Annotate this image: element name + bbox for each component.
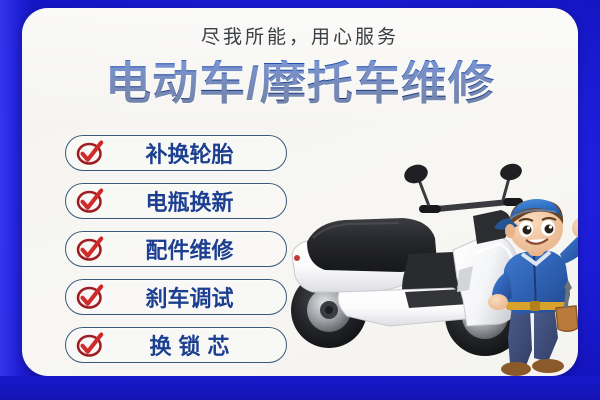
ear — [505, 224, 515, 238]
left-mirror — [402, 162, 430, 206]
mechanic-svg — [460, 198, 578, 376]
mechanic-illustration — [460, 198, 578, 376]
service-item-3[interactable]: 配件维修 — [65, 231, 287, 267]
check-circle-icon — [75, 186, 105, 216]
tail-light — [294, 255, 300, 261]
belt-buckle — [530, 301, 540, 311]
right-arm — [560, 232, 578, 264]
thumbs-up-hand — [572, 210, 578, 240]
service-item-2[interactable]: 电瓶换新 — [65, 183, 287, 219]
service-label: 刹车调试 — [105, 281, 286, 313]
service-label: 补换轮胎 — [105, 137, 286, 169]
white-card: 尽我所能，用心服务 电动车/摩托车维修 — [22, 8, 578, 376]
promo-poster: 尽我所能，用心服务 电动车/摩托车维修 — [0, 0, 600, 400]
bottom-blue-band — [0, 376, 600, 400]
check-circle-icon — [75, 138, 105, 168]
tool-pouch — [556, 306, 578, 331]
service-list: 补换轮胎 电瓶换新 配件维修 — [65, 135, 287, 363]
service-label: 换锁芯 — [105, 329, 286, 361]
tagline: 尽我所能，用心服务 — [22, 22, 578, 49]
left-hand — [488, 294, 508, 310]
service-label: 配件维修 — [105, 233, 286, 265]
left-shoe — [501, 362, 531, 376]
service-label: 电瓶换新 — [105, 185, 286, 217]
check-circle-icon — [75, 282, 105, 312]
service-item-4[interactable]: 刹车调试 — [65, 279, 287, 315]
right-shoe — [532, 359, 564, 373]
left-grip — [419, 205, 441, 213]
service-item-5[interactable]: 换锁芯 — [65, 327, 287, 363]
check-circle-icon — [75, 234, 105, 264]
service-item-1[interactable]: 补换轮胎 — [65, 135, 287, 171]
left-leg — [508, 306, 532, 366]
right-mirror — [498, 162, 523, 200]
check-circle-icon — [75, 330, 105, 360]
page-title: 电动车/摩托车维修 — [22, 60, 578, 106]
